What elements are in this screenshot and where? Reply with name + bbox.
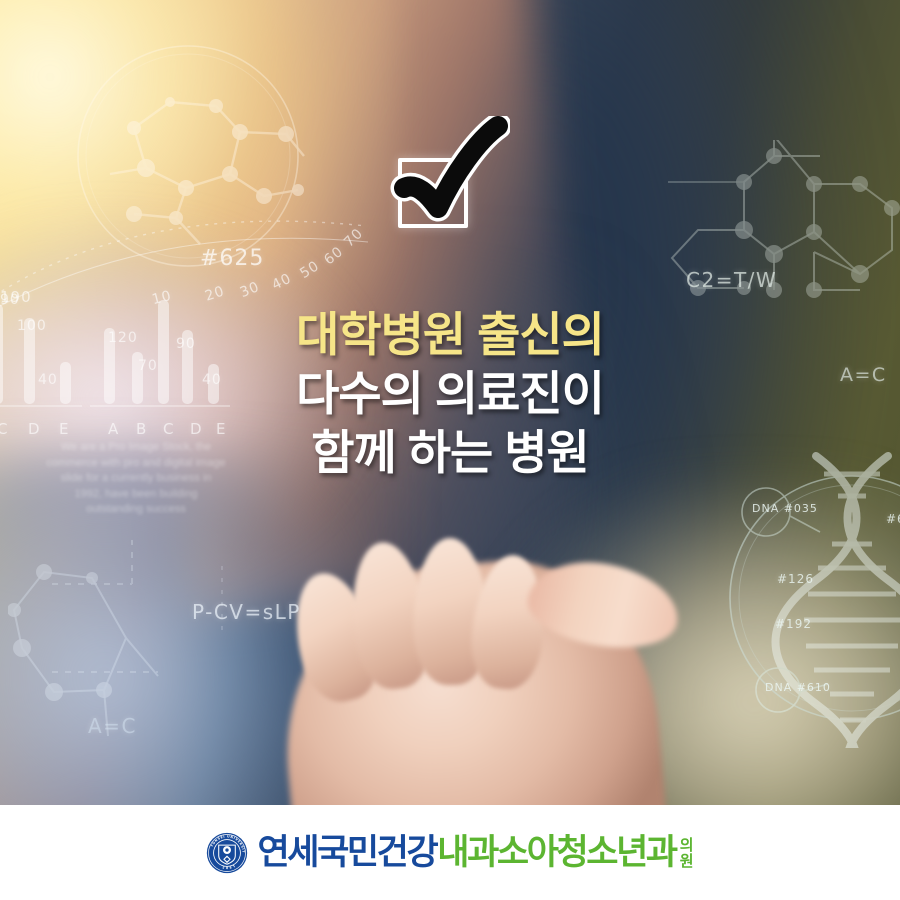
molecule-chain-left-icon <box>8 540 308 770</box>
formula-label: P-CV=sLP <box>192 600 301 624</box>
clinic-suffix-top: 의 <box>680 838 694 853</box>
headline-line-1: 대학병원 출신의 <box>0 306 900 365</box>
clinic-name-primary: 연세국민건강 <box>257 835 436 870</box>
clinic-name-secondary: 내과소아청소년과 <box>437 835 675 870</box>
headline-block: 대학병원 출신의 다수의 의료진이 함께 하는 병원 <box>0 306 900 482</box>
dna-helix-icon <box>720 448 900 748</box>
clinic-name: 연세국민건강 내과소아청소년과 의 원 <box>257 835 693 870</box>
formula-label: A=C <box>88 714 137 738</box>
headline-line-2: 다수의 의료진이 <box>0 365 900 424</box>
dna-callout-label: DNA #610 <box>765 682 805 694</box>
clinic-suffix-bottom: 원 <box>680 854 694 869</box>
formula-label: C2=T/W <box>686 268 777 292</box>
checkbox-check-icon <box>398 158 468 228</box>
check-stroke <box>382 116 510 234</box>
promo-poster: #625 190 10 20 30 40 50 60 70 <box>0 0 900 900</box>
headline-line-3: 함께 하는 병원 <box>0 424 900 483</box>
dna-tick-label: #192 <box>775 617 812 631</box>
clinic-name-suffix: 의 원 <box>680 838 694 869</box>
clinic-logo[interactable]: YONSEI UNIVERSITY 1885 연세국민건강 내과소아청소년과 의… <box>206 832 693 874</box>
dna-callout-label: DNA #035 <box>752 503 792 515</box>
yonsei-university-seal-icon: YONSEI UNIVERSITY 1885 <box>206 832 248 874</box>
dna-tick-label: #126 <box>777 572 814 586</box>
dna-tick-label: #6 <box>886 512 900 526</box>
footer-bar: YONSEI UNIVERSITY 1885 연세국민건강 내과소아청소년과 의… <box>0 805 900 900</box>
